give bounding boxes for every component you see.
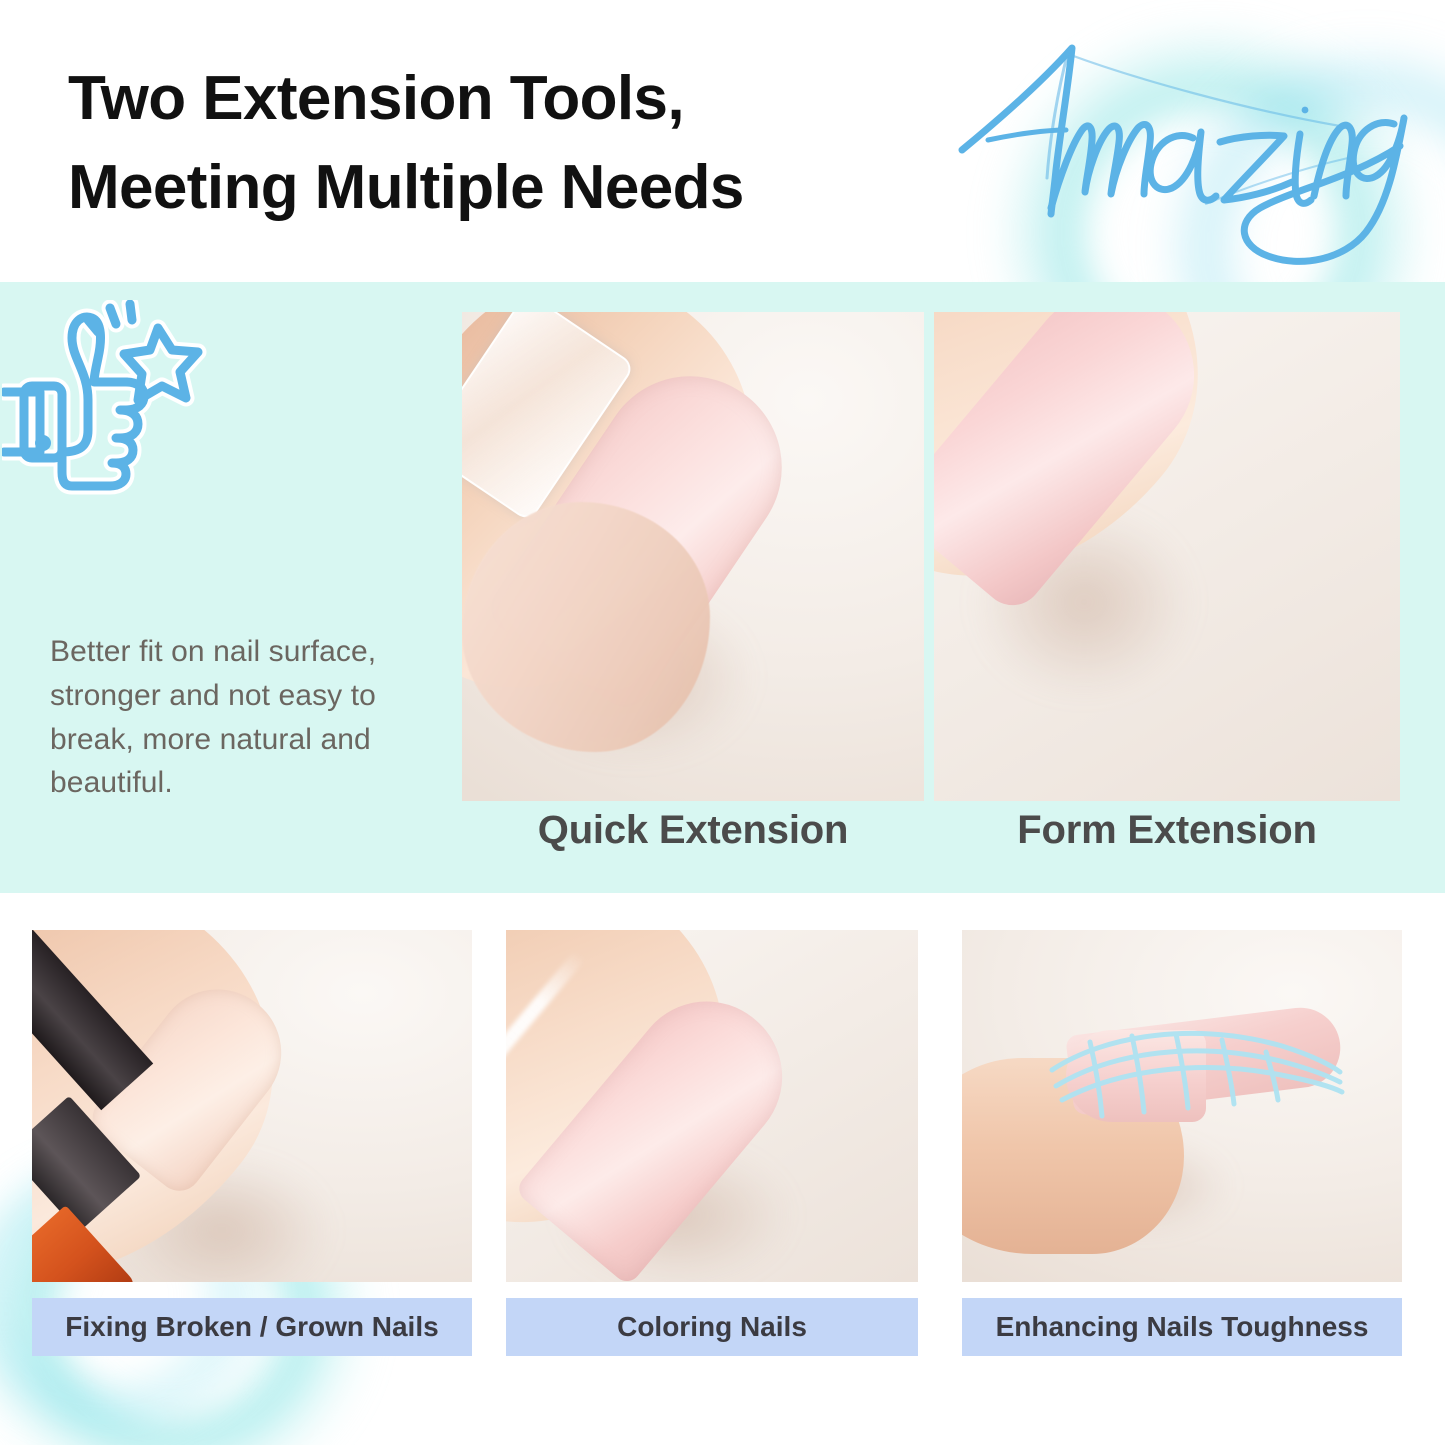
caption-form-extension: Form Extension [934,808,1400,853]
photo-quick-extension [462,312,924,801]
nail-strength-mesh-icon [1046,1012,1346,1132]
caption-quick-extension: Quick Extension [462,808,924,853]
photo-enhancing-nails-toughness [962,930,1402,1282]
caption-fixing-broken-nails-label: Fixing Broken / Grown Nails [65,1311,438,1343]
script-word-amazing [948,18,1408,268]
caption-coloring-nails: Coloring Nails [506,1298,918,1356]
caption-enhancing-nails-toughness: Enhancing Nails Toughness [962,1298,1402,1356]
photo-fixing-broken-nails [32,930,472,1282]
caption-enhancing-nails-toughness-label: Enhancing Nails Toughness [996,1311,1369,1343]
caption-coloring-nails-label: Coloring Nails [617,1311,807,1343]
caption-fixing-broken-nails: Fixing Broken / Grown Nails [32,1298,472,1356]
thumbs-up-star-icon [2,300,262,570]
feature-description: Better fit on nail surface, stronger and… [50,630,450,805]
photo-coloring-nails [506,930,918,1282]
photo-form-extension [934,312,1400,801]
header: Two Extension Tools, Meeting Multiple Ne… [0,0,1445,282]
infographic-page: Two Extension Tools, Meeting Multiple Ne… [0,0,1445,1445]
